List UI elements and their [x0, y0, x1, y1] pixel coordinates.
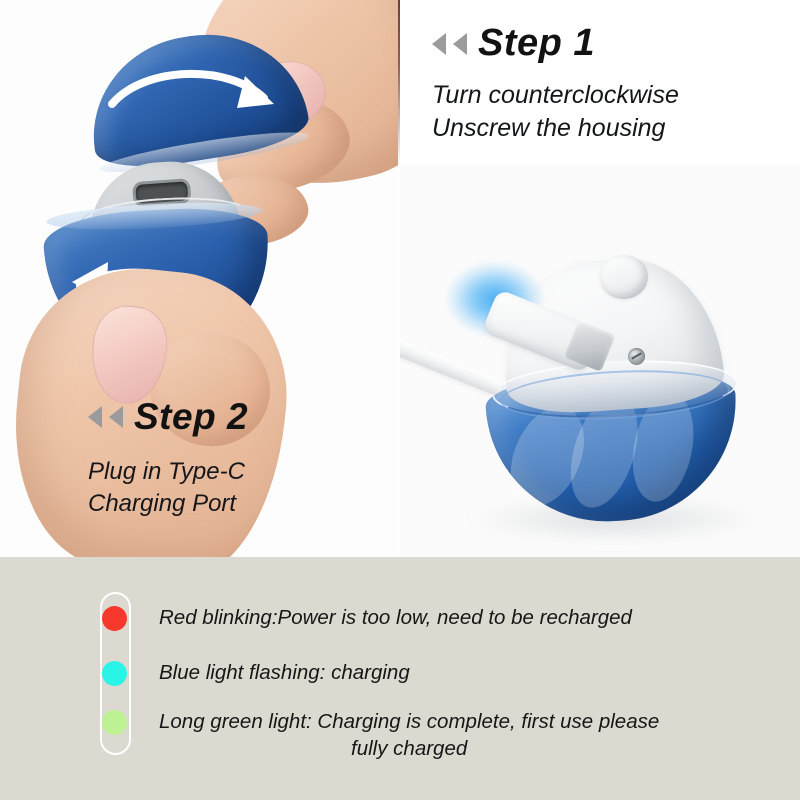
instruction-infographic: Step 1 Turn counterclockwise Unscrew the… [0, 0, 800, 800]
legend-row-label: Long green light: Charging is complete, … [159, 709, 659, 762]
photo-step2-charging [400, 165, 800, 557]
led-status-legend: Red blinking:Power is too low, need to b… [0, 557, 800, 800]
step-2-block: Step 2 Plug in Type-C Charging Port [88, 396, 418, 520]
bottom-housing-rim [46, 198, 263, 233]
legend-row: Blue light flashing: charging [102, 660, 410, 687]
step-2-heading: Step 2 [88, 396, 418, 438]
step-1-block: Step 1 Turn counterclockwise Unscrew the… [432, 22, 792, 146]
legend-row: Red blinking:Power is too low, need to b… [102, 605, 632, 632]
blue-status-dot [102, 661, 127, 686]
legend-row-label: Blue light flashing: charging [159, 660, 410, 687]
step-1-description: Turn counterclockwise Unscrew the housin… [432, 79, 792, 146]
left-triangle-icon [109, 406, 123, 428]
step-2-title: Step 2 [134, 396, 248, 438]
left-triangle-icon [432, 33, 446, 55]
left-triangle-icon [453, 33, 467, 55]
step-1-title: Step 1 [478, 22, 595, 65]
red-status-dot [102, 606, 127, 631]
green-status-dot [102, 710, 127, 735]
legend-row: Long green light: Charging is complete, … [102, 709, 659, 762]
legend-row-label: Red blinking:Power is too low, need to b… [159, 605, 632, 632]
left-triangle-icon [88, 406, 102, 428]
housing-screw [628, 348, 645, 365]
step-2-description: Plug in Type-C Charging Port [88, 456, 418, 520]
panel-divider [398, 0, 400, 165]
clockwise-rotation-arrow [104, 58, 294, 138]
step-1-heading: Step 1 [432, 22, 792, 65]
